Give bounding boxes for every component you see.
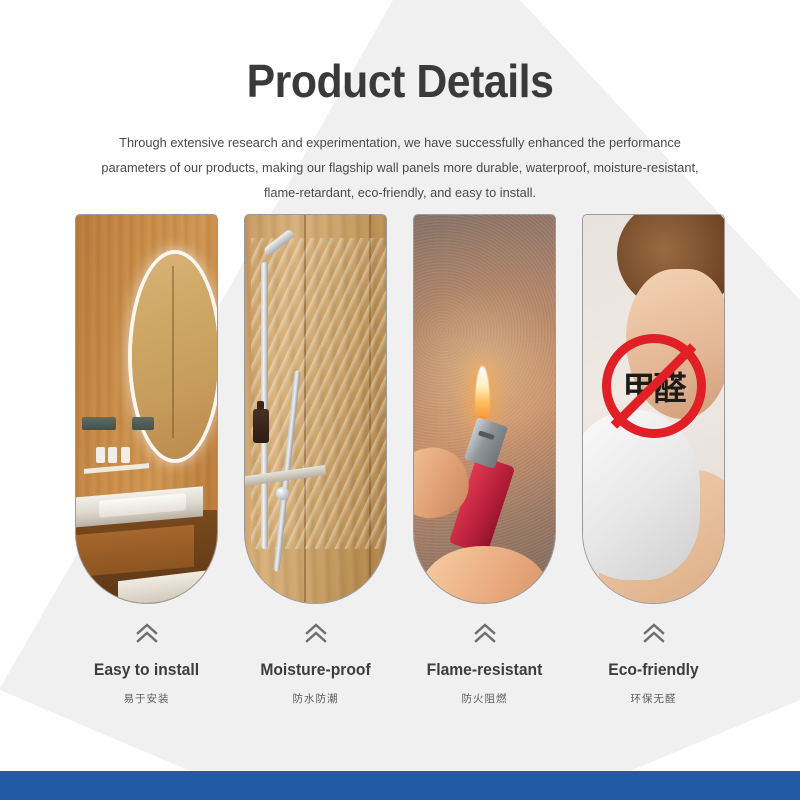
- feature-panel-eco-friendly[interactable]: 甲醛: [582, 214, 725, 604]
- baby-no-formaldehyde-image: 甲醛: [583, 215, 724, 603]
- double-chevron-up-icon: [303, 620, 329, 646]
- caption-label-en: Eco-friendly: [588, 660, 720, 680]
- double-chevron-up-icon: [134, 620, 160, 646]
- feature-panel-easy-to-install[interactable]: [75, 214, 218, 604]
- no-formaldehyde-prohibition-icon: 甲醛: [602, 334, 706, 438]
- wall-switch-panel-2: [132, 417, 154, 430]
- double-chevron-up-icon: [641, 620, 667, 646]
- feature-image-panels: 甲醛: [75, 214, 725, 604]
- page-header: Product Details Through extensive resear…: [0, 0, 800, 205]
- caption-label-cn: 防火阻燃: [413, 691, 556, 706]
- caption-label-en: Easy to install: [81, 660, 213, 680]
- page-description: Through extensive research and experimen…: [99, 130, 700, 205]
- caption-easy-to-install: Easy to install 易于安装: [75, 620, 218, 706]
- toiletry-bottle-3: [121, 447, 130, 463]
- soap-dispenser-bottle: [253, 409, 269, 443]
- feature-panel-flame-resistant[interactable]: [413, 214, 556, 604]
- caption-moisture-proof: Moisture-proof 防水防潮: [244, 620, 387, 706]
- wall-switch-panel: [82, 417, 116, 430]
- caption-label-cn: 防水防潮: [244, 691, 387, 706]
- shower-spray-image: [245, 215, 386, 603]
- feature-panel-moisture-proof[interactable]: [244, 214, 387, 604]
- toiletry-bottle-1: [96, 447, 105, 463]
- caption-eco-friendly: Eco-friendly 环保无醛: [582, 620, 725, 706]
- caption-label-cn: 易于安装: [75, 691, 218, 706]
- caption-label-en: Moisture-proof: [250, 660, 382, 680]
- caption-label-en: Flame-resistant: [419, 660, 551, 680]
- lighter-flame-image: [414, 215, 555, 603]
- double-chevron-up-icon: [472, 620, 498, 646]
- water-spray: [251, 238, 386, 548]
- feature-captions: Easy to install 易于安装 Moisture-proof 防水防潮…: [75, 620, 725, 706]
- shower-valve-knob: [276, 487, 289, 500]
- bathroom-vanity-image: [76, 215, 217, 603]
- toiletry-bottle-2: [108, 447, 117, 463]
- caption-flame-resistant: Flame-resistant 防火阻燃: [413, 620, 556, 706]
- caption-label-cn: 环保无醛: [582, 691, 725, 706]
- footer-accent-bar: [0, 771, 800, 800]
- page-title: Product Details: [28, 0, 772, 108]
